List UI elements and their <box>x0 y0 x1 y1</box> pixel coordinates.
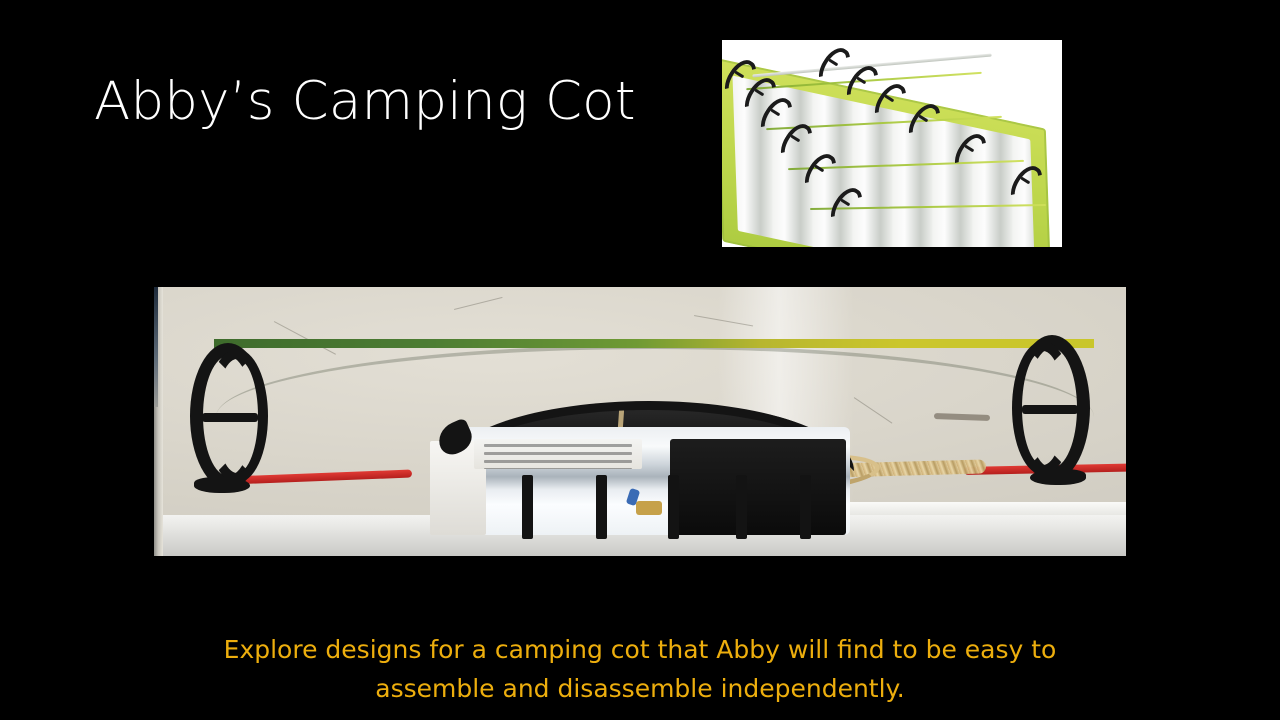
caption-line-2: assemble and disassemble independently. <box>190 669 1090 708</box>
bundle-black-panel <box>670 439 846 535</box>
cot-rolled-bundle <box>430 405 880 539</box>
cot-packed-photo <box>154 287 1126 556</box>
slide: Abby’s Camping Cot <box>0 0 1280 720</box>
bracket-foot <box>1030 469 1086 485</box>
bracket-spoke <box>202 413 258 422</box>
bundle-strap <box>736 475 747 539</box>
bracket-foot <box>194 477 250 493</box>
bundle-strap <box>800 475 811 539</box>
bundle-strap <box>522 475 533 539</box>
cot-end-bracket-left <box>190 343 270 489</box>
bundle-valve-brass <box>636 501 662 515</box>
slide-caption: Explore designs for a camping cot that A… <box>190 630 1090 708</box>
bundle-strap <box>596 475 607 539</box>
photo-doorframe-dark <box>154 287 158 407</box>
caption-line-1: Explore designs for a camping cot that A… <box>190 630 1090 669</box>
cot-assembled-photo <box>722 40 1062 247</box>
bundle-label <box>474 439 642 469</box>
bracket-spoke <box>1022 405 1078 414</box>
bundle-strap <box>668 475 679 539</box>
cot-end-bracket-right <box>1010 335 1090 481</box>
page-title: Abby’s Camping Cot <box>94 68 694 136</box>
